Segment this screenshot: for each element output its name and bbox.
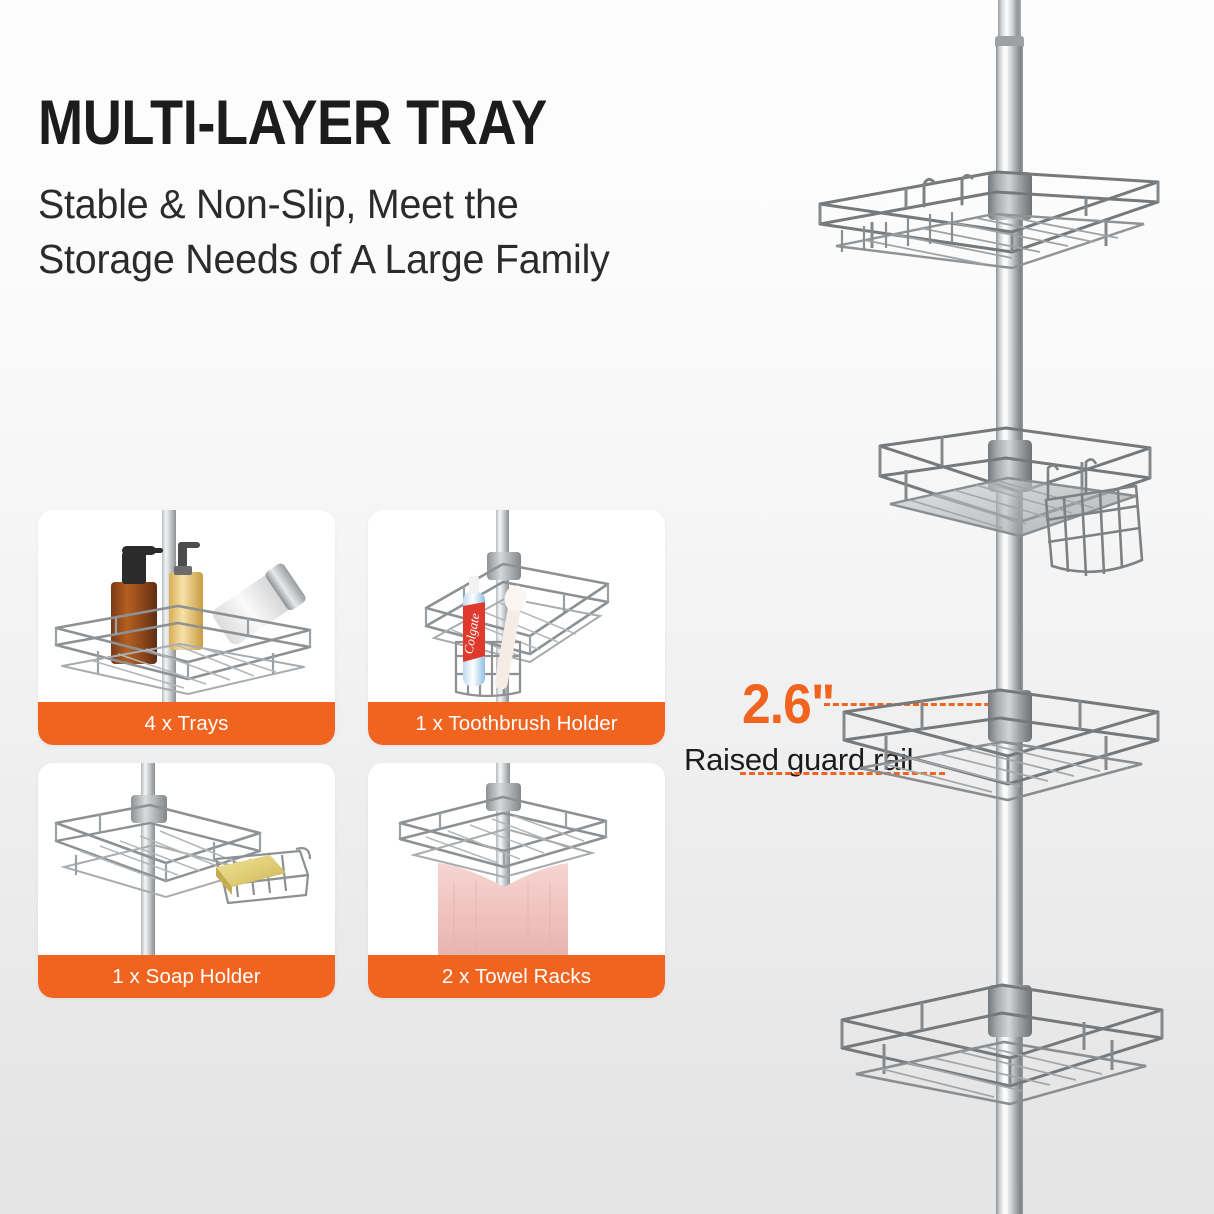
tray-with-pink-towel-icon: [368, 763, 665, 955]
feature-card-caption: 2 x Towel Racks: [368, 955, 665, 998]
product-photo-tension-pole-caddy: [806, 0, 1214, 1214]
tray-with-toothbrush-caddy-icon: Colgate: [368, 510, 665, 702]
feature-card-toothbrush-holder[interactable]: Colgate 1 x Toothbrush Holder: [368, 510, 665, 745]
feature-card-caption: 1 x Toothbrush Holder: [368, 702, 665, 745]
subtitle: Stable & Non-Slip, Meet the Storage Need…: [38, 177, 748, 286]
infographic-canvas: MULTI-LAYER TRAY Stable & Non-Slip, Meet…: [0, 0, 1214, 1214]
feature-card-soap-holder[interactable]: 1 x Soap Holder: [38, 763, 335, 998]
subtitle-line-2: Storage Needs of A Large Family: [38, 232, 748, 287]
headline-block: MULTI-LAYER TRAY Stable & Non-Slip, Meet…: [38, 92, 778, 286]
feature-card-caption: 1 x Soap Holder: [38, 955, 335, 998]
tray-with-soap-dish-icon: [38, 763, 335, 955]
feature-card-grid: 4 x Trays: [38, 510, 665, 998]
feature-card-trays[interactable]: 4 x Trays: [38, 510, 335, 745]
feature-card-towel-racks[interactable]: 2 x Towel Racks: [368, 763, 665, 998]
subtitle-line-1: Stable & Non-Slip, Meet the: [38, 177, 748, 232]
feature-card-caption: 4 x Trays: [38, 702, 335, 745]
page-title: MULTI-LAYER TRAY: [38, 92, 674, 155]
corner-tray-with-bottles-icon: [38, 510, 335, 702]
